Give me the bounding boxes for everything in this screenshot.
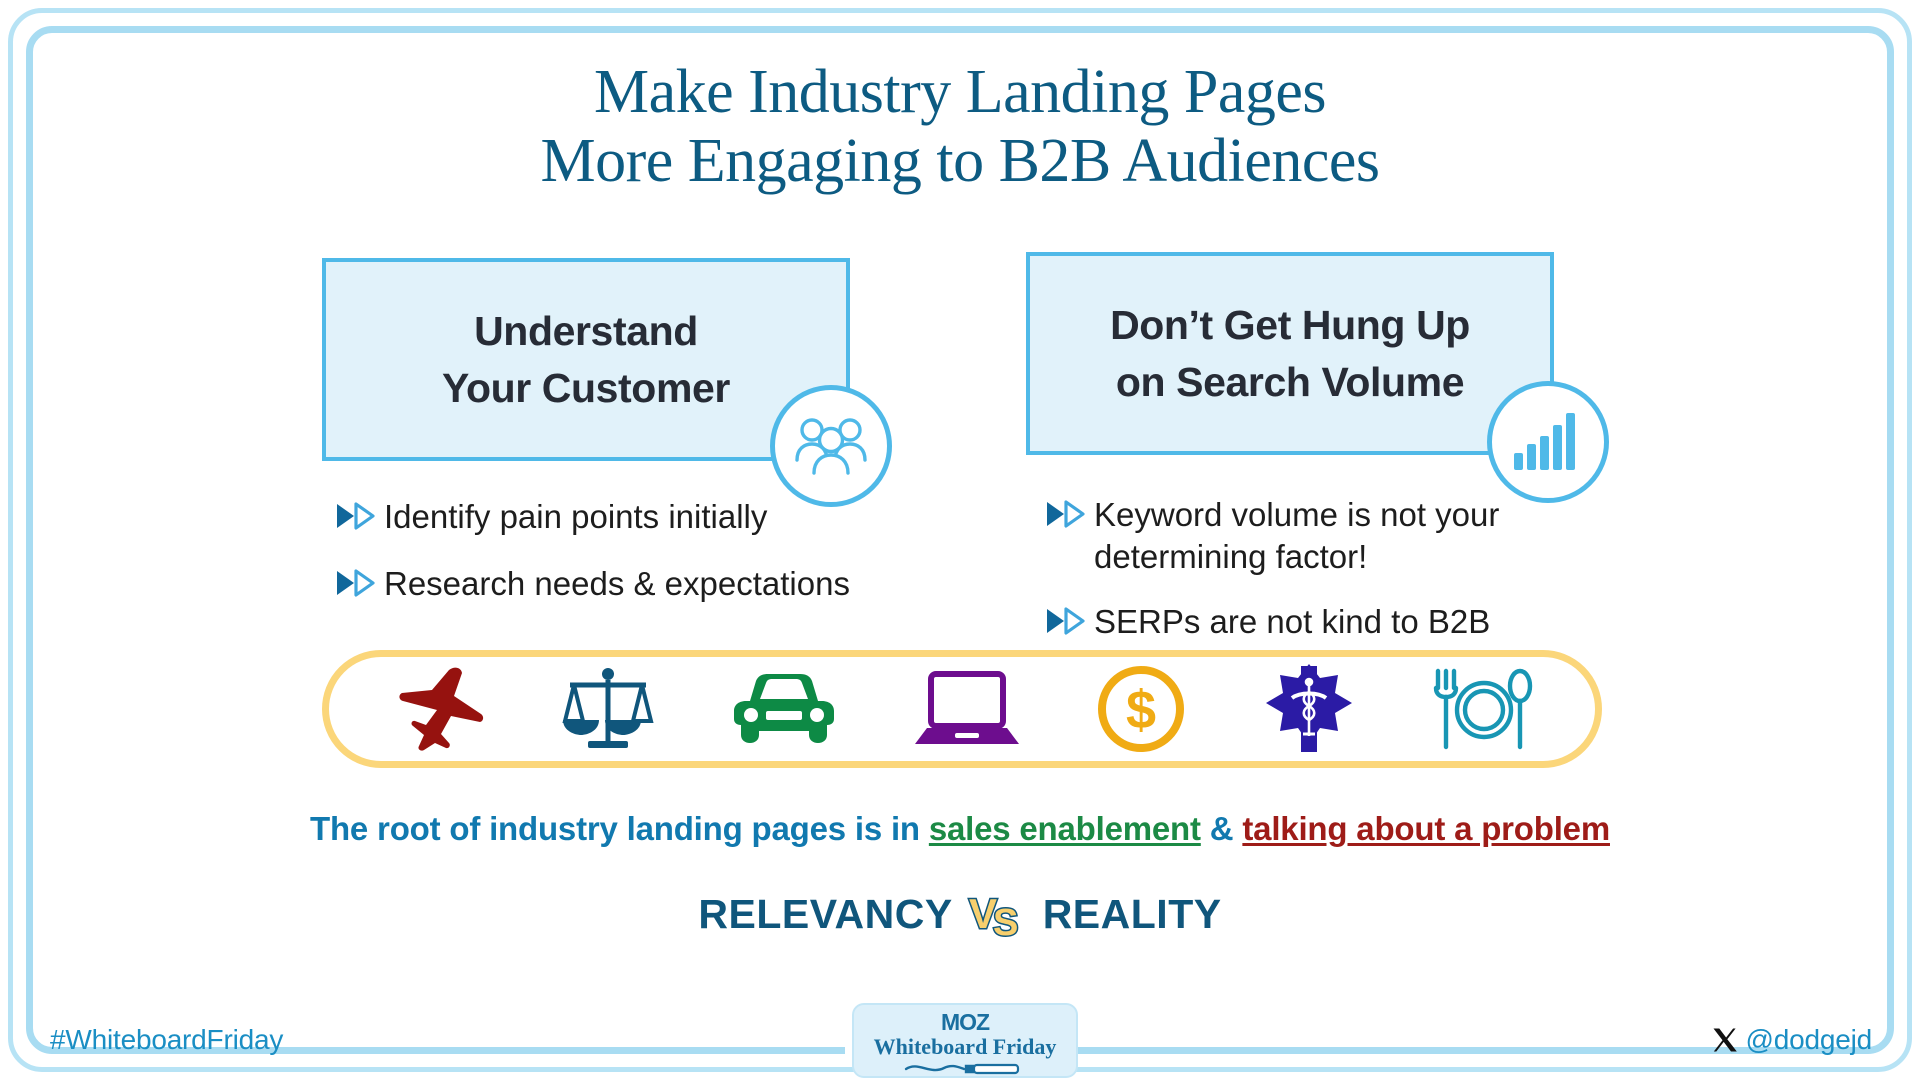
header-box-dont-get-hung-up-on-search-volume: Don’t Get Hung Up on Search Volume <box>1026 252 1554 455</box>
list-item: Research needs & expectations <box>336 563 856 606</box>
header-box-right-line-1: Don’t Get Hung Up <box>1110 297 1470 354</box>
restaurant-icon <box>1431 666 1533 752</box>
double-chevron-icon <box>1046 497 1086 537</box>
laptop-icon <box>913 670 1021 748</box>
x-logo-icon <box>1712 1027 1738 1053</box>
airplane-icon <box>391 664 487 754</box>
people-icon <box>791 411 871 482</box>
root-statement-prefix: The root of industry landing pages is in <box>310 810 929 847</box>
list-item: Keyword volume is not your determining f… <box>1046 494 1526 577</box>
header-box-left-line-2: Your Customer <box>442 360 730 417</box>
bullet-text: Keyword volume is not your determining f… <box>1094 494 1526 577</box>
industry-icon-strip: $ <box>322 650 1602 768</box>
marker-squiggle-icon <box>900 1060 1030 1078</box>
double-chevron-icon <box>336 566 376 606</box>
scales-icon <box>562 665 654 753</box>
root-statement-conjunction: & <box>1201 810 1243 847</box>
list-item: SERPs are not kind to B2B <box>1046 601 1526 644</box>
header-box-left-line-1: Understand <box>474 303 698 360</box>
dollar-coin-icon: $ <box>1096 664 1186 754</box>
footer-hashtag: #WhiteboardFriday <box>50 1024 283 1056</box>
bar-chart-icon <box>1511 409 1585 476</box>
root-statement-highlight-sales-enablement: sales enablement <box>929 810 1201 847</box>
footer-handle[interactable]: @dodgejd <box>1712 1024 1872 1056</box>
bar-chart-icon-badge <box>1487 381 1609 503</box>
page-title-line-1: Make Industry Landing Pages <box>0 58 1920 127</box>
page-title-line-2: More Engaging to B2B Audiences <box>0 127 1920 196</box>
bullet-text: Research needs & expectations <box>384 563 856 605</box>
list-item: Identify pain points initially <box>336 496 856 539</box>
people-icon-badge <box>770 385 892 507</box>
svg-text:$: $ <box>1126 680 1156 740</box>
double-chevron-icon <box>336 499 376 539</box>
slide-canvas: Make Industry Landing Pages More Engagin… <box>0 0 1920 1080</box>
car-icon <box>730 669 838 749</box>
bullet-text: SERPs are not kind to B2B <box>1094 601 1526 643</box>
double-chevron-icon <box>1046 604 1086 644</box>
relevancy-vs-reality: RELEVANCY V S REALITY <box>0 888 1920 940</box>
moz-wordmark: MOZ <box>941 1011 989 1034</box>
versus-left-label: RELEVANCY <box>698 891 952 938</box>
bullet-list-left: Identify pain points initially Research … <box>336 496 856 630</box>
versus-badge-icon: V S <box>967 888 1029 940</box>
root-statement-highlight-talking-about-a-problem: talking about a problem <box>1242 810 1610 847</box>
moz-whiteboard-friday-badge: MOZ Whiteboard Friday <box>852 1003 1078 1078</box>
footer-handle-label: @dodgejd <box>1746 1024 1872 1056</box>
bullet-text: Identify pain points initially <box>384 496 856 538</box>
svg-text:S: S <box>993 902 1019 940</box>
header-box-right-line-2: on Search Volume <box>1116 354 1464 411</box>
page-title: Make Industry Landing Pages More Engagin… <box>0 58 1920 197</box>
medical-icon <box>1262 662 1356 756</box>
versus-right-label: REALITY <box>1043 891 1222 938</box>
bullet-list-right: Keyword volume is not your determining f… <box>1046 494 1526 668</box>
root-statement: The root of industry landing pages is in… <box>0 810 1920 848</box>
moz-badge-subtitle: Whiteboard Friday <box>874 1035 1057 1059</box>
